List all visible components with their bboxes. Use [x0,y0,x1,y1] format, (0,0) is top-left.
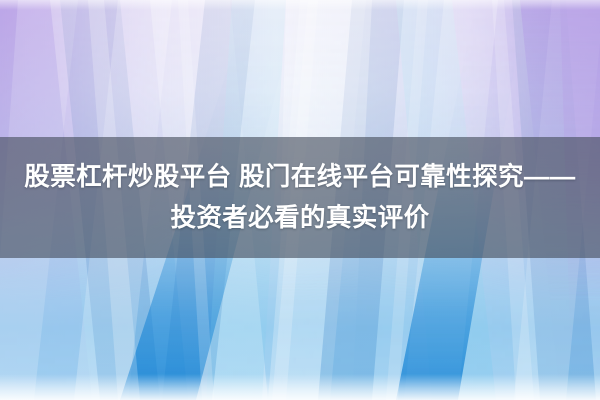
promo-banner: 股票杠杆炒股平台 股门在线平台可靠性探究—— 投资者必看的真实评价 [0,0,600,400]
caption-line-2: 投资者必看的真实评价 [170,198,429,239]
caption-line-1: 股票杠杆炒股平台 股门在线平台可靠性探究—— [24,157,575,198]
caption-band: 股票杠杆炒股平台 股门在线平台可靠性探究—— 投资者必看的真实评价 [0,137,600,258]
